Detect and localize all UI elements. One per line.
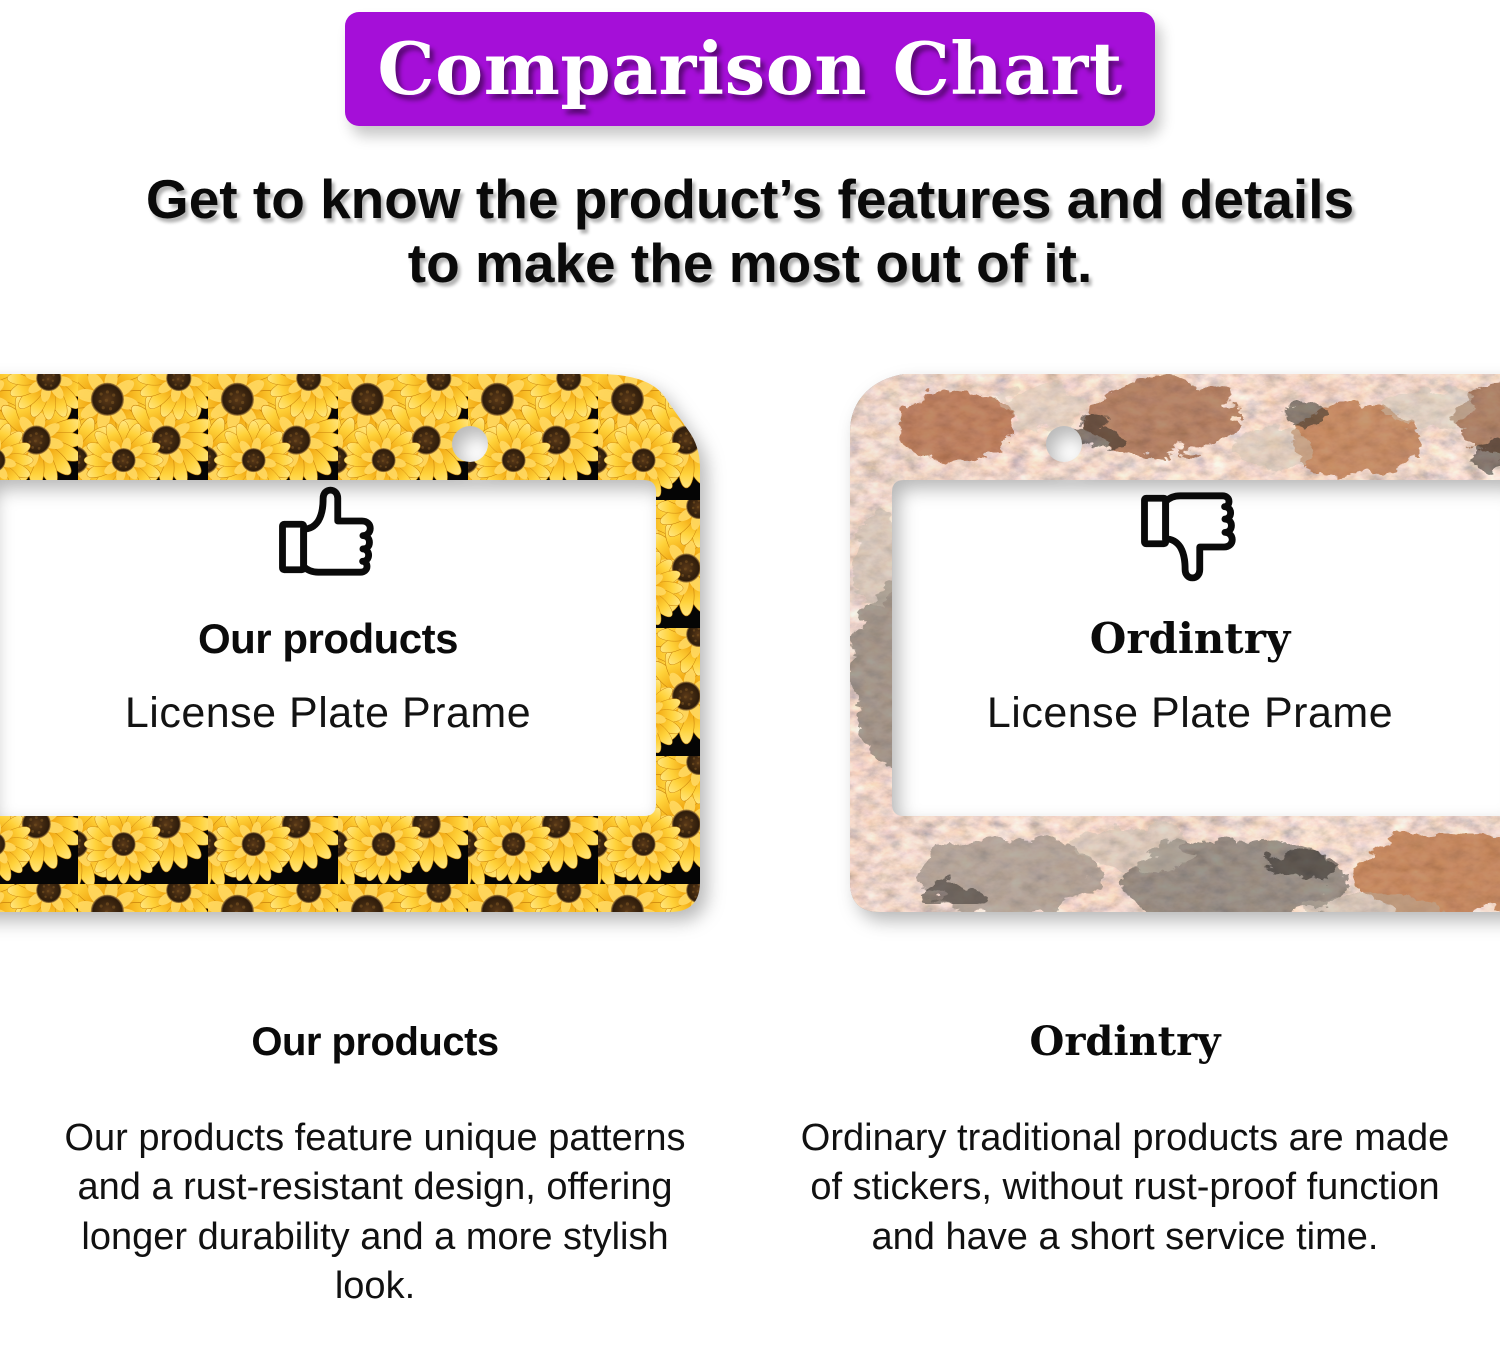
column-description-ours: Our products feature unique patterns and…	[0, 1114, 750, 1312]
page-subtitle: Get to know the product’s features and d…	[0, 168, 1500, 296]
product-frames-row: Our products License Plate Prame	[0, 372, 1500, 962]
page-title: Comparison Chart	[377, 33, 1122, 105]
plate-subtitle-ordinary: License Plate Prame	[987, 690, 1393, 737]
comparison-columns: Our products Our products feature unique…	[0, 1020, 1500, 1364]
column-heading-ours: Our products	[0, 1020, 750, 1064]
column-ordinary: Ordintry Ordinary traditional products a…	[750, 1020, 1500, 1262]
plate-title-ours: Our products	[198, 616, 458, 662]
thumbs-up-icon	[276, 482, 380, 586]
plate-content-ordinary: Ordintry License Plate Prame	[828, 482, 1500, 737]
plate-content-ours: Our products License Plate Prame	[0, 482, 708, 737]
title-banner: Comparison Chart	[345, 12, 1155, 126]
column-heading-ordinary: Ordintry	[750, 1020, 1500, 1064]
thumbs-down-icon	[1138, 482, 1242, 586]
column-ours: Our products Our products feature unique…	[0, 1020, 750, 1312]
plate-subtitle-ours: License Plate Prame	[125, 690, 531, 737]
column-description-ordinary: Ordinary traditional products are made o…	[750, 1114, 1500, 1262]
comparison-chart-page: Comparison Chart Get to know the product…	[0, 0, 1500, 1364]
plate-title-ordinary: Ordintry	[1090, 616, 1291, 662]
